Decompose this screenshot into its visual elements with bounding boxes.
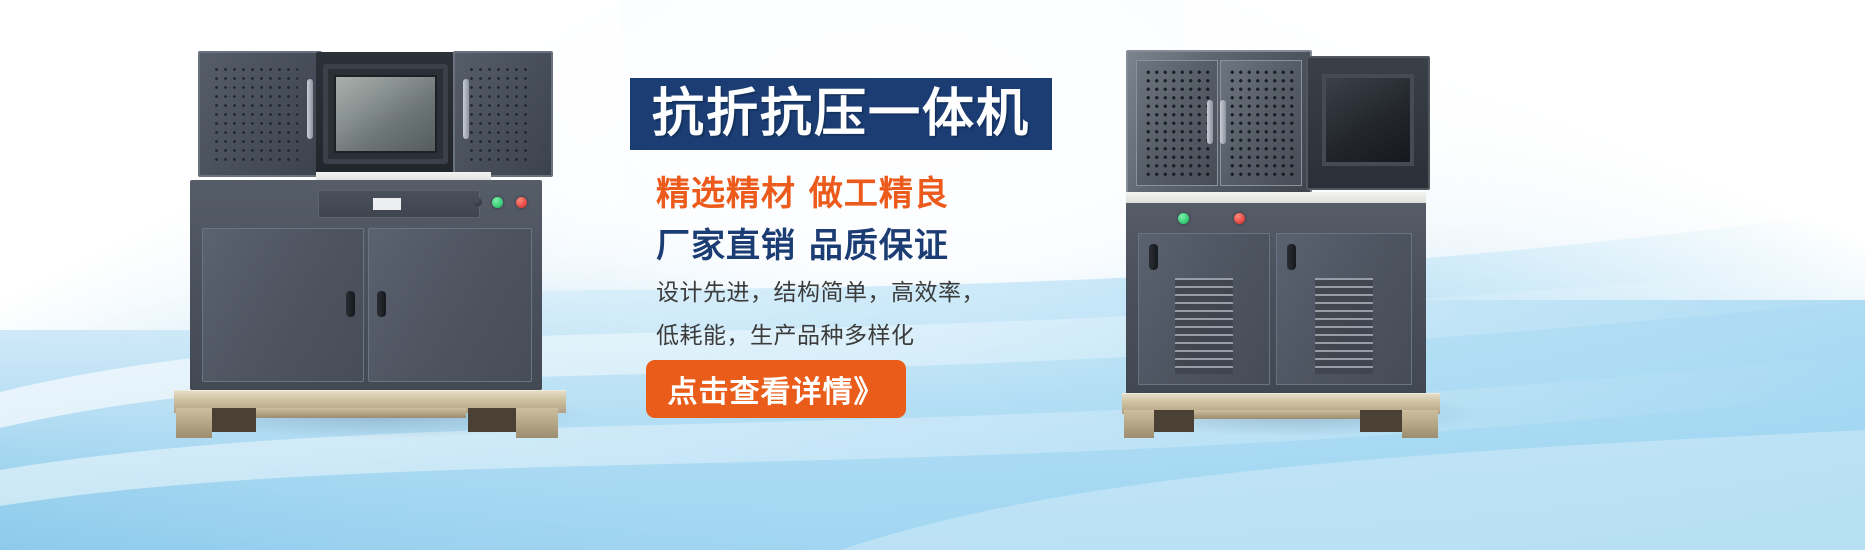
door-handle <box>377 291 386 317</box>
right-machine-cabinet <box>1126 203 1426 393</box>
right-machine-upper-cabinet <box>1126 50 1312 196</box>
left-machine-monitor <box>323 64 448 164</box>
left-machine-cabinet <box>190 180 542 390</box>
indicator-red-icon <box>1234 213 1245 224</box>
pallet-gap <box>468 408 516 432</box>
right-machine-screen <box>1322 74 1414 166</box>
pallet-leg <box>176 408 212 438</box>
door-handle <box>346 291 355 317</box>
ventilation-louver-icon <box>1315 278 1373 374</box>
left-machine-upper-right-door <box>453 51 553 177</box>
indicator-green-icon <box>1178 213 1189 224</box>
right-machine-lower-door-right <box>1276 233 1412 385</box>
pallet-leg <box>1402 410 1438 438</box>
pallet-rail <box>1194 410 1360 419</box>
view-details-button-label: 点击查看详情》 <box>668 367 885 411</box>
pallet-gap <box>212 408 256 432</box>
right-machine-photo <box>1118 42 1468 427</box>
left-machine-screen <box>334 75 437 153</box>
pallet-leg <box>1124 410 1154 438</box>
door-handle <box>1287 244 1296 270</box>
door-handle <box>1149 244 1158 270</box>
perforation-pattern-icon <box>212 65 298 163</box>
ventilation-louver-icon <box>1175 278 1233 374</box>
left-machine-lower-door-right <box>368 228 532 382</box>
door-handle <box>463 79 469 139</box>
door-handle <box>307 79 313 139</box>
page-title: 抗折抗压一体机 <box>652 88 1030 140</box>
promo-banner: 抗折抗压一体机 精选精材 做工精良 厂家直销 品质保证 设计先进，结构简单，高效… <box>0 0 1865 550</box>
indicator-green-icon <box>492 197 503 208</box>
left-machine-lower-door-left <box>202 228 364 382</box>
left-machine-label-plate <box>373 198 401 210</box>
door-handle <box>1220 100 1226 144</box>
left-machine-upper-left-door <box>198 51 322 177</box>
right-machine-upper-door-left <box>1136 60 1218 186</box>
title-banner: 抗折抗压一体机 <box>630 78 1052 150</box>
right-machine-monitor <box>1306 56 1430 190</box>
right-machine-lower-door-left <box>1138 233 1270 385</box>
pallet-rail <box>256 408 466 418</box>
left-machine-photo <box>168 42 578 427</box>
view-details-button[interactable]: 点击查看详情》 <box>646 360 906 418</box>
perforation-pattern-icon <box>1144 68 1210 178</box>
left-machine-control-slot <box>318 190 480 218</box>
description-line-1: 设计先进，结构简单，高效率， <box>656 273 985 307</box>
perforation-pattern-icon <box>467 65 529 163</box>
perforation-pattern-icon <box>1228 68 1294 178</box>
description-line-2: 低耗能，生产品种多样化 <box>656 316 915 350</box>
pallet-gap <box>1154 410 1194 432</box>
indicator-red-icon <box>516 197 527 208</box>
door-handle <box>1207 100 1213 144</box>
indicator-off-icon <box>474 198 482 206</box>
subtitle-orange: 精选精材 做工精良 <box>656 166 949 215</box>
subtitle-navy: 厂家直销 品质保证 <box>656 218 949 267</box>
pallet-gap <box>1360 410 1402 432</box>
right-machine-upper-door-right <box>1220 60 1302 186</box>
pallet-leg <box>516 408 558 438</box>
right-machine-white-strip <box>1126 192 1426 203</box>
